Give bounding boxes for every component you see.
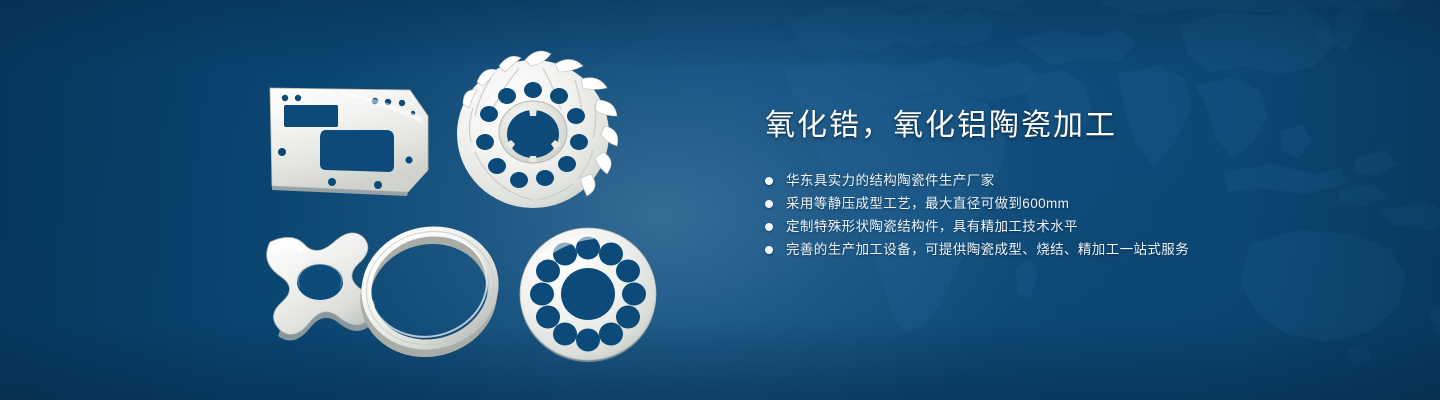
bullet-dot-icon	[765, 223, 773, 231]
bullet-dot-icon	[765, 177, 773, 185]
ceramic-impeller-rotor	[448, 48, 618, 218]
list-item-label: 采用等静压成型工艺，最大直径可做到600mm	[786, 193, 1069, 215]
bullet-dot-icon	[765, 200, 773, 208]
list-item: 完善的生产加工设备，可提供陶瓷成型、烧结、精加工一站式服务	[765, 239, 1385, 261]
ceramic-processing-banner: 氧化锆，氧化铝陶瓷加工 华东具实力的结构陶瓷件生产厂家 采用等静压成型工艺，最大…	[0, 0, 1440, 400]
list-item-label: 完善的生产加工设备，可提供陶瓷成型、烧结、精加工一站式服务	[786, 239, 1189, 261]
list-item: 采用等静压成型工艺，最大直径可做到600mm	[765, 193, 1385, 215]
ceramic-perforated-disc	[518, 226, 662, 366]
feature-list: 华东具实力的结构陶瓷件生产厂家 采用等静压成型工艺，最大直径可做到600mm 定…	[765, 170, 1385, 261]
ceramic-ring	[356, 222, 506, 357]
list-item-label: 华东具实力的结构陶瓷件生产厂家	[786, 170, 995, 192]
bullet-dot-icon	[765, 246, 773, 254]
banner-copy: 氧化锆，氧化铝陶瓷加工 华东具实力的结构陶瓷件生产厂家 采用等静压成型工艺，最大…	[765, 104, 1385, 262]
list-item: 华东具实力的结构陶瓷件生产厂家	[765, 170, 1385, 192]
page-title: 氧化锆，氧化铝陶瓷加工	[765, 104, 1385, 148]
list-item: 定制特殊形状陶瓷结构件，具有精加工技术水平	[765, 216, 1385, 238]
list-item-label: 定制特殊形状陶瓷结构件，具有精加工技术水平	[786, 216, 1078, 238]
ceramic-product-group	[0, 0, 700, 400]
ceramic-plate-with-cutouts	[250, 72, 450, 202]
